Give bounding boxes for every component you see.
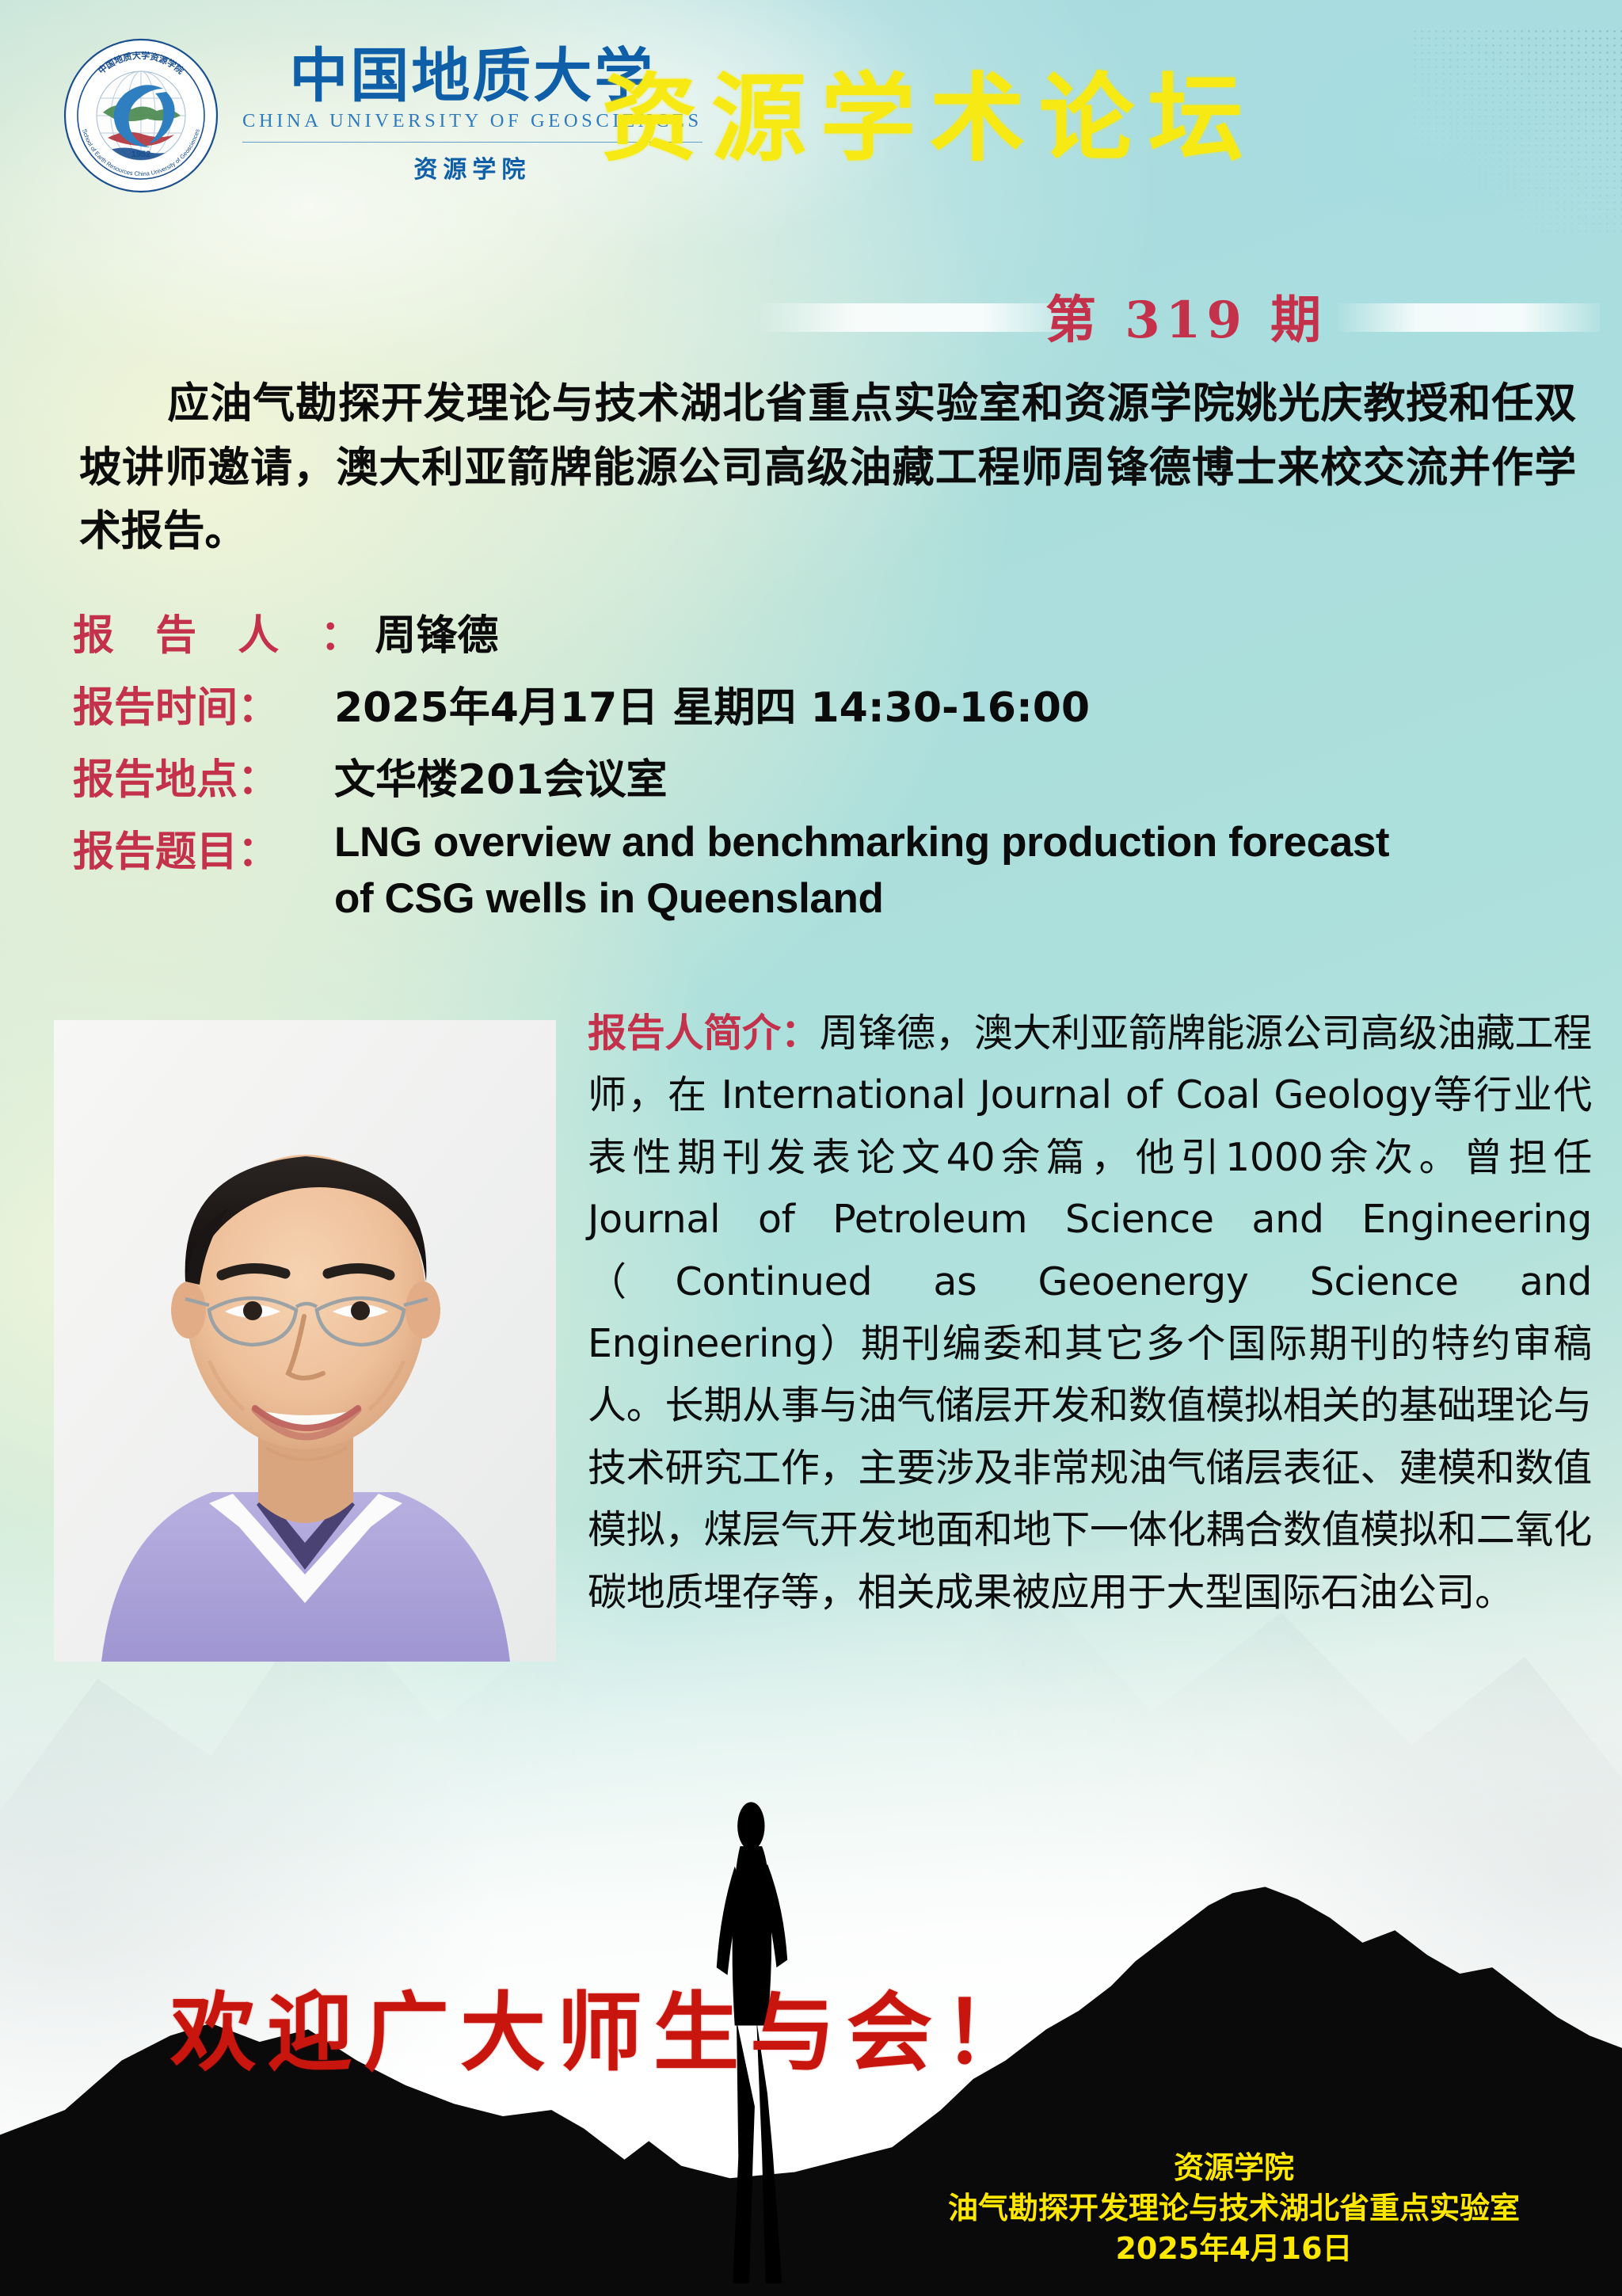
school-name-cn: 资源学院 — [413, 150, 531, 185]
time-label: 报告时间： — [73, 674, 334, 733]
footer-line-1: 资源学院 — [878, 2148, 1590, 2188]
speaker-bio: 报告人简介：周锋德，澳大利亚箭牌能源公司高级油藏工程师，在 Internatio… — [588, 1003, 1592, 1624]
detail-row-time: 报告时间： 2025年4月17日 星期四 14:30-16:00 — [73, 674, 1578, 733]
detail-row-venue: 报告地点： 文华楼201会议室 — [73, 746, 1578, 805]
bio-label: 报告人简介： — [588, 1011, 820, 1056]
time-value: 2025年4月17日 星期四 14:30-16:00 — [334, 674, 1090, 733]
bio-text: 周锋德，澳大利亚箭牌能源公司高级油藏工程师，在 International Jo… — [588, 1011, 1592, 1615]
topic-value: LNG overview and benchmarking production… — [334, 818, 1389, 923]
topic-label: 报告题目： — [73, 818, 334, 878]
issue-banner: 第 319 期 — [0, 281, 1622, 351]
poster-header: 中国地质大学资源学院 School of Earth Resources Chi… — [0, 0, 1622, 261]
university-crest-icon: 中国地质大学资源学院 School of Earth Resources Chi… — [62, 36, 220, 195]
footer-line-2: 油气勘探开发理论与技术湖北省重点实验室 — [878, 2188, 1590, 2229]
poster-footer: 资源学院 油气勘探开发理论与技术湖北省重点实验室 2025年4月16日 — [878, 2148, 1590, 2269]
welcome-message: 欢迎广大师生与会！ — [170, 1964, 1040, 2088]
speaker-label: 报 告 人 ： — [73, 602, 375, 661]
svg-text:1952: 1952 — [131, 150, 150, 159]
speaker-photo — [54, 1020, 556, 1662]
seminar-poster: 中国地质大学资源学院 School of Earth Resources Chi… — [0, 0, 1622, 2296]
footer-line-3: 2025年4月16日 — [878, 2229, 1590, 2269]
ribbon-left — [760, 303, 1077, 332]
topic-line-1: LNG overview and benchmarking production… — [334, 818, 1389, 866]
forum-title: 资源学术论坛 — [602, 41, 1258, 179]
intro-paragraph: 应油气勘探开发理论与技术湖北省重点实验室和资源学院姚光庆教授和任双坡讲师邀请，澳… — [79, 372, 1576, 564]
topic-line-2: of CSG wells in Queensland — [334, 874, 1389, 923]
issue-number: 第 319 期 — [1045, 280, 1327, 352]
speaker-value: 周锋德 — [375, 602, 498, 661]
venue-value: 文华楼201会议室 — [334, 746, 668, 805]
detail-row-topic: 报告题目： LNG overview and benchmarking prod… — [73, 818, 1578, 923]
university-name-cn: 中国地质大学 — [289, 47, 655, 106]
ribbon-right — [1338, 303, 1600, 332]
venue-label: 报告地点： — [73, 746, 334, 805]
event-details: 报 告 人 ： 周锋德 报告时间： 2025年4月17日 星期四 14:30-1… — [73, 602, 1578, 935]
detail-row-speaker: 报 告 人 ： 周锋德 — [73, 602, 1578, 661]
